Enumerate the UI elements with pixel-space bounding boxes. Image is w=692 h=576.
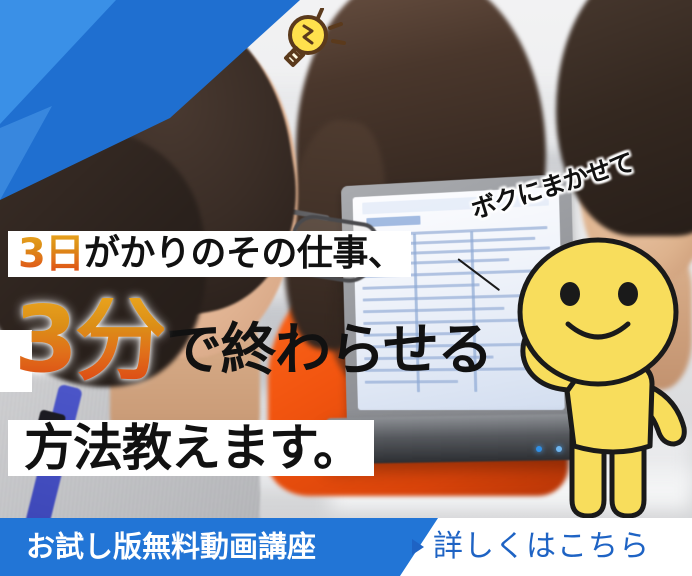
headline-line-1-number: 3日 <box>18 234 84 274</box>
cta-badge-label: お試し版無料動画講座 <box>26 533 316 562</box>
cta-link-label: 詳しくはこちら <box>433 532 650 562</box>
man-with-glasses <box>0 0 330 576</box>
lightbulb-icon <box>262 8 346 74</box>
headline-line-2-bar <box>0 330 32 392</box>
headline-line-1-bar: 3日 がかりのその仕事、 <box>8 231 411 277</box>
headline-line-3-bar: 方法教えます。 <box>8 420 374 476</box>
cta-bar[interactable]: お試し版無料動画講座 詳しくはこちら <box>0 518 692 576</box>
headline-line-1-text: がかりのその仕事、 <box>84 236 404 272</box>
promo-banner: 3日 がかりのその仕事、 3分 で終わらせる 方法教えます。 ボクにまかせて <box>0 0 692 576</box>
play-triangle-icon <box>412 539 424 555</box>
cta-details-link[interactable]: 詳しくはこちら <box>412 532 650 562</box>
headline-line-3-text: 方法教えます。 <box>24 423 362 473</box>
yellow-mascot-character <box>494 232 692 522</box>
